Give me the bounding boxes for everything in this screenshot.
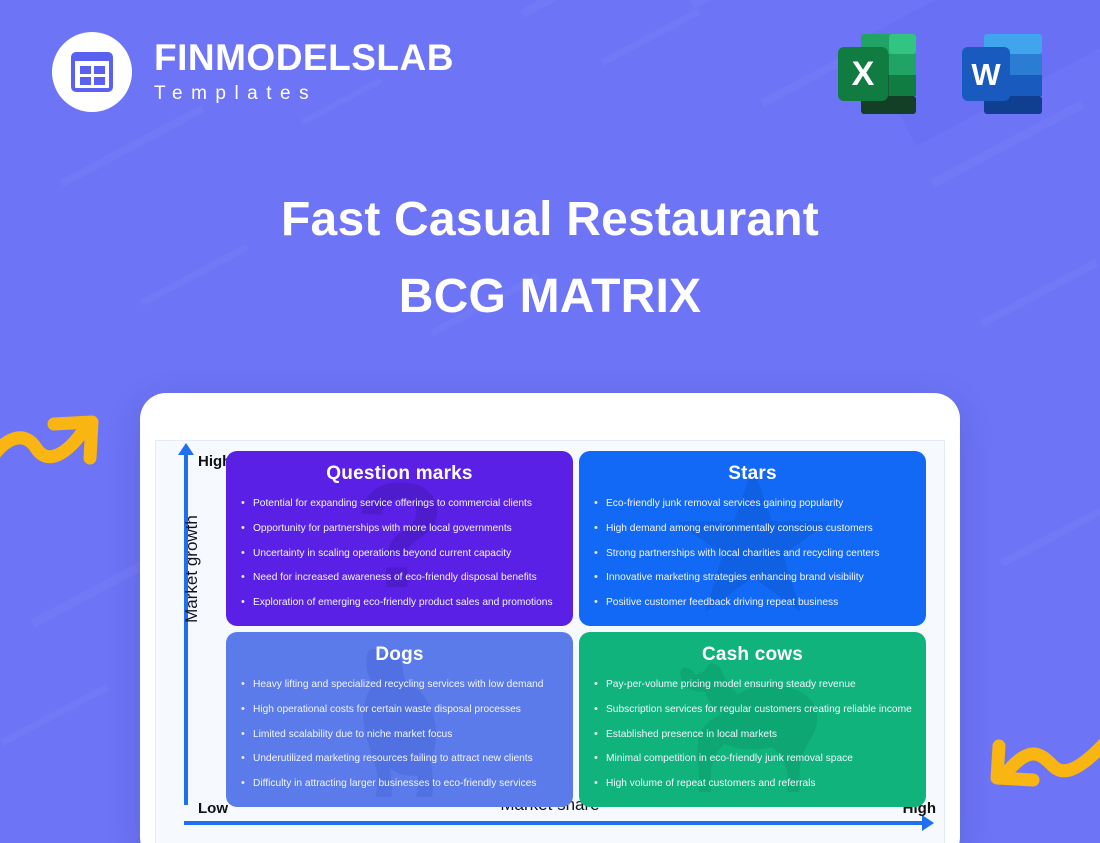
quadrant-title: Question marks	[240, 463, 559, 485]
brand-name: FINMODELSLAB	[154, 39, 454, 78]
quadrant-dogs[interactable]: Dogs Heavy lifting and specialized recyc…	[226, 632, 573, 807]
list-item: Positive customer feedback driving repea…	[593, 596, 912, 610]
list-item: High volume of repeat customers and refe…	[593, 777, 912, 791]
svg-text:X: X	[852, 55, 875, 93]
y-axis	[184, 453, 188, 805]
quadrant-title: Stars	[593, 463, 912, 485]
list-item: Need for increased awareness of eco-frie…	[240, 571, 559, 585]
matrix-card: Market growth Market share High Low High…	[140, 393, 960, 843]
brand-subtitle: Templates	[154, 83, 454, 105]
list-item: Exploration of emerging eco-friendly pro…	[240, 596, 559, 610]
list-item: High demand among environmentally consci…	[593, 522, 912, 536]
brand-badge	[52, 32, 132, 112]
quadrant-cash-cows[interactable]: Cash cows Pay-per-volume pricing model e…	[579, 632, 926, 807]
list-item: Underutilized marketing resources failin…	[240, 752, 559, 766]
squiggle-arrow-up-right-icon	[0, 408, 123, 478]
list-item: Difficulty in attracting larger business…	[240, 777, 559, 791]
quadrant-bullet-list: Eco-friendly junk removal services gaini…	[593, 497, 912, 610]
svg-text:W: W	[971, 57, 1001, 92]
list-item: Innovative marketing strategies enhancin…	[593, 571, 912, 585]
list-item: Heavy lifting and specialized recycling …	[240, 678, 559, 692]
list-item: Subscription services for regular custom…	[593, 703, 912, 717]
quadrant-grid: ? Question marks Potential for expanding…	[226, 451, 926, 807]
quadrant-bullet-list: Heavy lifting and specialized recycling …	[240, 678, 559, 791]
word-file-icon[interactable]: W	[954, 25, 1052, 123]
page-title: Fast Casual Restaurant BCG MATRIX	[0, 192, 1100, 325]
list-item: Uncertainty in scaling operations beyond…	[240, 547, 559, 561]
quadrant-bullet-list: Pay-per-volume pricing model ensuring st…	[593, 678, 912, 791]
bcg-matrix-slide: FINMODELSLAB Templates X	[0, 0, 1100, 843]
y-axis-label: Market growth	[182, 515, 202, 623]
quadrant-bullet-list: Potential for expanding service offering…	[240, 497, 559, 610]
list-item: Established presence in local markets	[593, 728, 912, 742]
list-item: Potential for expanding service offering…	[240, 497, 559, 511]
list-item: Eco-friendly junk removal services gaini…	[593, 497, 912, 511]
brand-logo[interactable]: FINMODELSLAB Templates	[52, 32, 454, 112]
quadrant-question-marks[interactable]: ? Question marks Potential for expanding…	[226, 451, 573, 626]
excel-file-icon[interactable]: X	[828, 25, 926, 123]
title-line-1: Fast Casual Restaurant	[0, 192, 1100, 249]
list-item: High operational costs for certain waste…	[240, 703, 559, 717]
x-axis	[184, 821, 924, 825]
list-item: Limited scalability due to niche market …	[240, 728, 559, 742]
list-item: Pay-per-volume pricing model ensuring st…	[593, 678, 912, 692]
quadrant-title: Cash cows	[593, 644, 912, 666]
brand-wordmark: FINMODELSLAB Templates	[154, 39, 454, 106]
quadrant-stars[interactable]: Stars Eco-friendly junk removal services…	[579, 451, 926, 626]
file-format-badges: X W	[828, 25, 1052, 123]
list-item: Opportunity for partnerships with more l…	[240, 522, 559, 536]
squiggle-arrow-down-left-icon	[971, 726, 1100, 806]
grid-window-icon	[70, 50, 114, 94]
list-item: Strong partnerships with local charities…	[593, 547, 912, 561]
quadrant-title: Dogs	[240, 644, 559, 666]
x-axis-tick-low: Low	[198, 800, 228, 817]
matrix-panel: Market growth Market share High Low High…	[155, 440, 945, 843]
title-line-2: BCG MATRIX	[0, 269, 1100, 326]
list-item: Minimal competition in eco-friendly junk…	[593, 752, 912, 766]
